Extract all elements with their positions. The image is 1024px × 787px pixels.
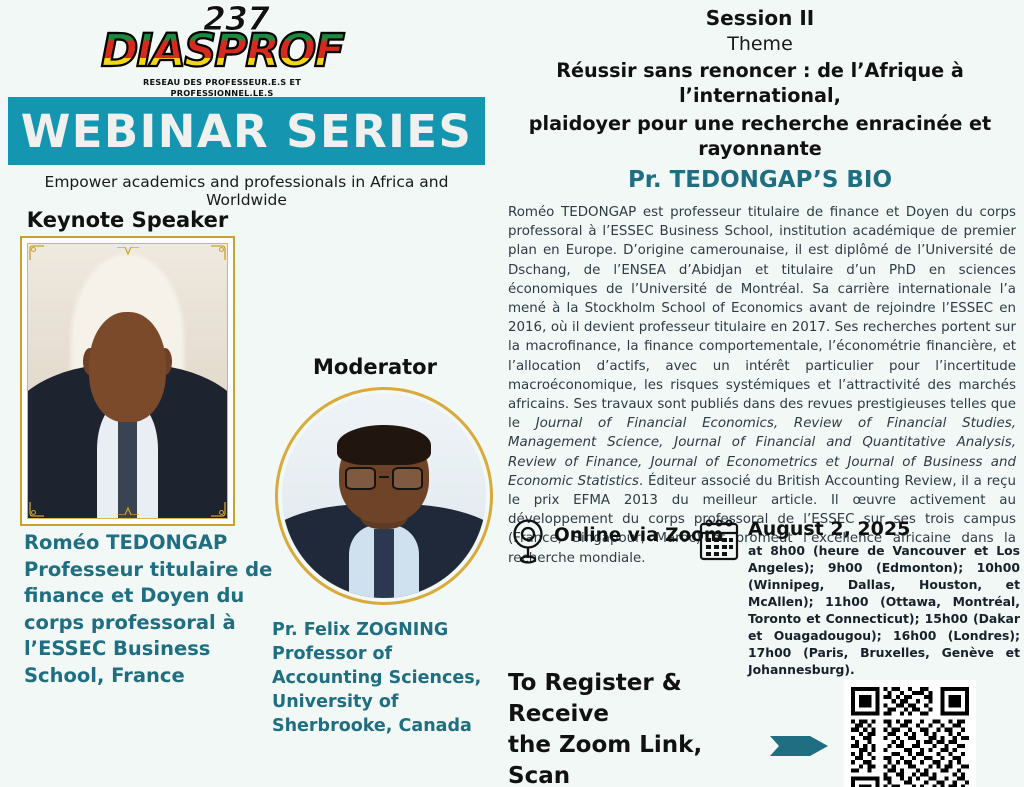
bio-paragraph: Roméo TEDONGAP est professeur titulaire … (508, 203, 1016, 568)
cta-line-2: the Zoom Link, Scan (508, 730, 766, 787)
session-header: Session II Theme Réussir sans renoncer :… (496, 6, 1024, 161)
moderator-photo (282, 394, 486, 598)
moderator-details: Pr. Felix ZOGNINGProfessor of Accounting… (272, 618, 497, 738)
event-location: Online via Zoom (508, 518, 698, 678)
location-pin-icon (508, 518, 548, 569)
moderator-photo-ring (275, 387, 493, 605)
cta-text: To Register & Receive the Zoom Link, Sca… (508, 668, 766, 787)
keynote-speaker-heading: Keynote Speaker (0, 208, 255, 232)
logo-tagline-line1: RESEAU DES PROFESSEUR.E.S ET PROFESSIONN… (96, 77, 348, 99)
keynote-photo-frame (20, 236, 235, 526)
banner-subtitle: Empower academics and professionals in A… (8, 173, 485, 209)
qr-code[interactable] (844, 680, 976, 787)
arrow-right-icon (766, 731, 836, 761)
left-column: 237 DIASPROF RESEAU DES PROFESSEUR.E.S E… (0, 0, 500, 787)
event-details: Online via Zoom (508, 518, 1020, 678)
banner-title: WEBINAR SERIES (21, 105, 473, 158)
theme-line-2: plaidoyer pour une recherche enracinée e… (496, 111, 1024, 161)
bio-part-1: Roméo TEDONGAP est professeur titulaire … (508, 205, 1016, 431)
logo-wordmark-text: DIASPROF (101, 24, 343, 77)
session-title: Session II (496, 6, 1024, 30)
webinar-poster: 237 DIASPROF RESEAU DES PROFESSEUR.E.S E… (0, 0, 1024, 787)
registration-cta: To Register & Receive the Zoom Link, Sca… (508, 668, 1020, 787)
calendar-icon (698, 518, 740, 678)
right-column: Session II Theme Réussir sans renoncer :… (496, 0, 1024, 787)
logo-wordmark: DIASPROF (96, 28, 348, 74)
theme-label: Theme (496, 33, 1024, 55)
bio-title: Pr. TEDONGAP’S BIO (496, 167, 1024, 193)
webinar-series-banner: WEBINAR SERIES (8, 97, 485, 165)
keynote-speaker-photo (27, 243, 228, 519)
theme-line-1: Réussir sans renoncer : de l’Afrique à l… (496, 58, 1024, 108)
cta-line-1: To Register & Receive (508, 668, 766, 730)
qr-code-image (851, 687, 969, 787)
event-date: August 2, 2025 (748, 518, 1020, 540)
event-timezones: at 8h00 (heure de Vancouver et Los Angel… (748, 542, 1020, 678)
event-date-block: August 2, 2025 at 8h00 (heure de Vancouv… (698, 518, 1020, 678)
keynote-speaker-details: Roméo TEDONGAPProfesseur titulaire de fi… (24, 530, 274, 689)
moderator-heading: Moderator (255, 355, 495, 379)
